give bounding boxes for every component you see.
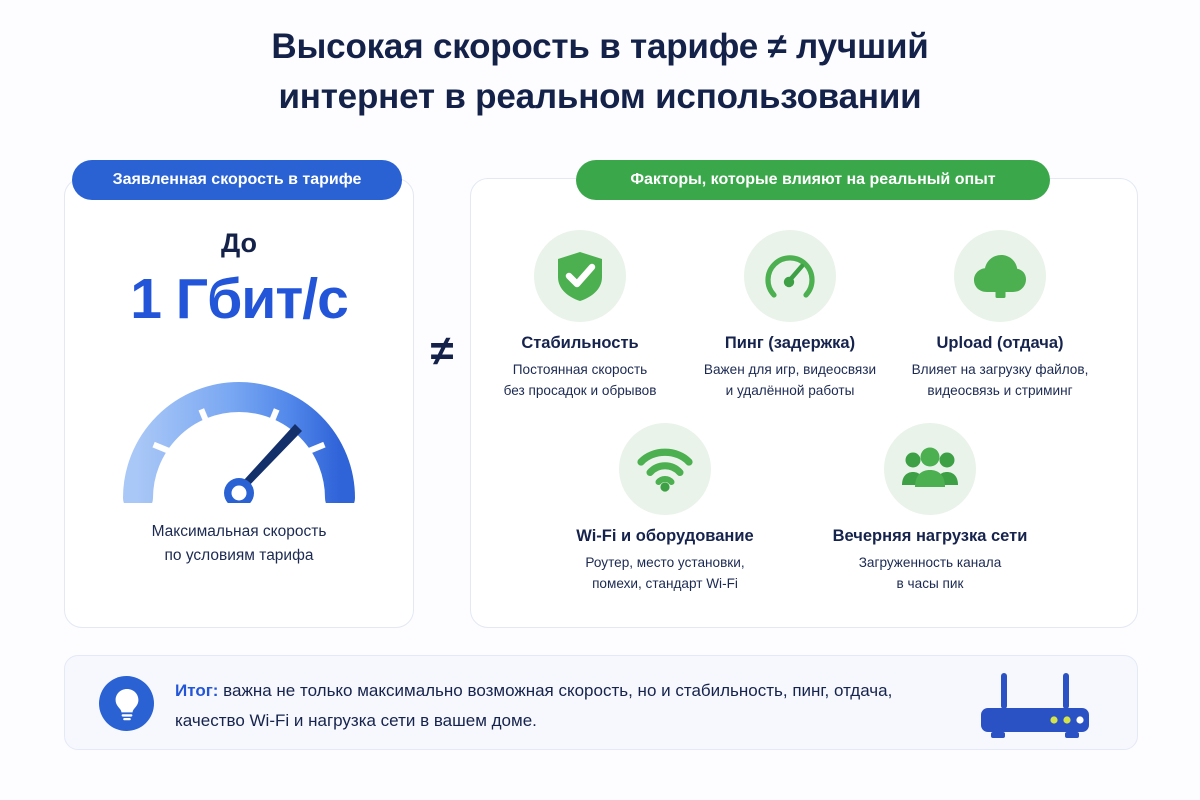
factor-description-line-2: видеосвязь и стриминг <box>900 381 1100 402</box>
router-icon <box>971 670 1099 742</box>
real-factors-badge: Факторы, которые влияют на реальный опыт <box>576 160 1050 200</box>
page-title: Высокая скорость в тарифе ≠ лучший интер… <box>0 22 1200 121</box>
factor-title: Вечерняя нагрузка сети <box>830 527 1030 546</box>
not-equal-icon: ≠ <box>412 330 472 372</box>
factor-item-stability: Стабильность Постоянная скорость без про… <box>480 230 680 401</box>
factor-description: Загруженность канала в часы пик <box>830 553 1030 594</box>
declared-speed-caption: Максимальная скорость по условиям тарифа <box>64 520 414 568</box>
factor-description-line-2: помехи, стандарт Wi-Fi <box>565 574 765 595</box>
factor-description-line-1: Постоянная скорость <box>480 360 680 381</box>
factor-item-network-load: Вечерняя нагрузка сети Загруженность кан… <box>830 423 1030 594</box>
factor-title: Wi-Fi и оборудование <box>565 527 765 546</box>
speed-prefix-label: До <box>64 228 414 259</box>
declared-speed-caption-line-2: по условиям тарифа <box>64 544 414 568</box>
summary-lead-label: Итог: <box>175 681 218 700</box>
wifi-icon <box>619 423 711 515</box>
factor-description-line-2: без просадок и обрывов <box>480 381 680 402</box>
factor-description: Постоянная скорость без просадок и обрыв… <box>480 360 680 401</box>
factor-description: Влияет на загрузку файлов, видеосвязь и … <box>900 360 1100 401</box>
summary-body-text: важна не только максимально возможная ск… <box>175 681 892 730</box>
declared-speed-caption-line-1: Максимальная скорость <box>64 520 414 544</box>
speed-value: 1 Гбит/с <box>64 266 414 332</box>
factor-title: Пинг (задержка) <box>690 334 890 353</box>
summary-bar: Итог: важна не только максимально возмож… <box>64 655 1138 750</box>
page-title-line-1: Высокая скорость в тарифе ≠ лучший <box>0 22 1200 72</box>
factor-title: Upload (отдача) <box>900 334 1100 353</box>
speedometer-icon <box>744 230 836 322</box>
cloud-upload-icon <box>954 230 1046 322</box>
factor-description-line-1: Важен для игр, видеосвязи <box>690 360 890 381</box>
factor-description-line-1: Роутер, место установки, <box>565 553 765 574</box>
speedometer-icon <box>114 358 364 503</box>
factor-description-line-1: Загруженность канала <box>830 553 1030 574</box>
factor-description-line-2: в часы пик <box>830 574 1030 595</box>
factor-description: Роутер, место установки, помехи, стандар… <box>565 553 765 594</box>
declared-speed-badge: Заявленная скорость в тарифе <box>72 160 402 200</box>
factor-item-wifi: Wi-Fi и оборудование Роутер, место устан… <box>565 423 765 594</box>
page-title-line-2: интернет в реальном использовании <box>0 72 1200 122</box>
lightbulb-icon <box>99 676 154 731</box>
factor-item-ping: Пинг (задержка) Важен для игр, видеосвяз… <box>690 230 890 401</box>
factor-description-line-2: и удалённой работы <box>690 381 890 402</box>
people-group-icon <box>884 423 976 515</box>
factor-title: Стабильность <box>480 334 680 353</box>
infographic-page: Высокая скорость в тарифе ≠ лучший интер… <box>0 0 1200 800</box>
factor-description: Важен для игр, видеосвязи и удалённой ра… <box>690 360 890 401</box>
shield-check-icon <box>534 230 626 322</box>
summary-text: Итог: важна не только максимально возмож… <box>175 676 965 737</box>
factor-description-line-1: Влияет на загрузку файлов, <box>900 360 1100 381</box>
factor-item-upload: Upload (отдача) Влияет на загрузку файло… <box>900 230 1100 401</box>
